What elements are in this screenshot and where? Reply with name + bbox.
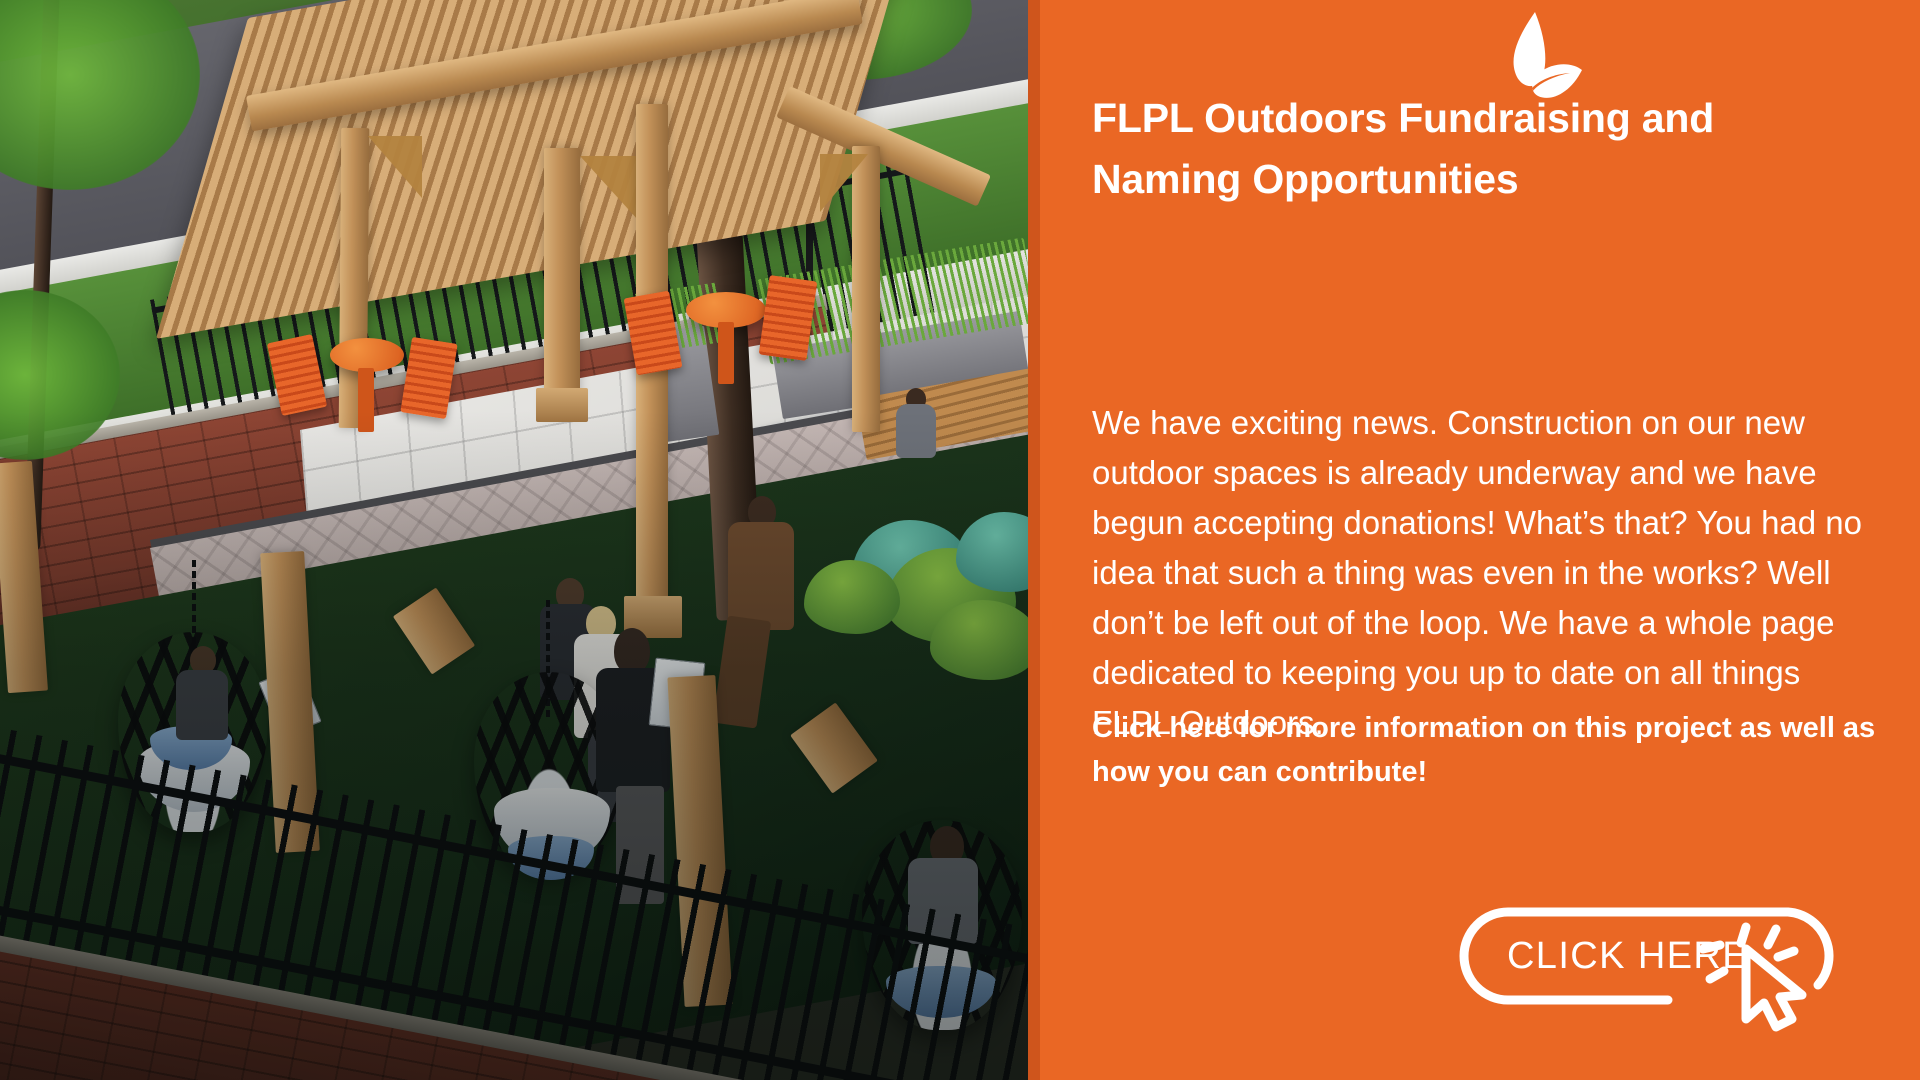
person-body-4 bbox=[896, 404, 936, 458]
click-here-button[interactable]: CLICK HERE bbox=[1458, 905, 1890, 1007]
bistro-table-1-leg bbox=[358, 368, 374, 432]
panel-edge-strip bbox=[1028, 0, 1040, 1080]
page-title: FLPL Outdoors Fundraising and Naming Opp… bbox=[1092, 88, 1792, 210]
bistro-table-2-leg bbox=[718, 322, 734, 384]
person-body-3 bbox=[728, 522, 794, 630]
shrub-green-3 bbox=[930, 600, 1036, 680]
promo-cta-text: Click here for more information on this … bbox=[1092, 706, 1882, 794]
pergola-post-center-base bbox=[536, 388, 588, 422]
click-here-label: CLICK HERE bbox=[1458, 905, 1798, 1007]
person-body-5 bbox=[176, 670, 228, 740]
pergola-post-center bbox=[544, 148, 580, 416]
pergola-post-right bbox=[852, 146, 880, 432]
two-leaf-icon bbox=[1488, 10, 1584, 120]
promo-panel: FLPL Outdoors Fundraising and Naming Opp… bbox=[1040, 0, 1920, 1080]
promo-banner: FLPL Outdoors Fundraising and Naming Opp… bbox=[0, 0, 1920, 1080]
outdoor-plaza-rendering bbox=[0, 0, 1036, 1080]
bistro-table-1 bbox=[330, 338, 404, 372]
promo-body-text: We have exciting news. Construction on o… bbox=[1092, 398, 1882, 748]
